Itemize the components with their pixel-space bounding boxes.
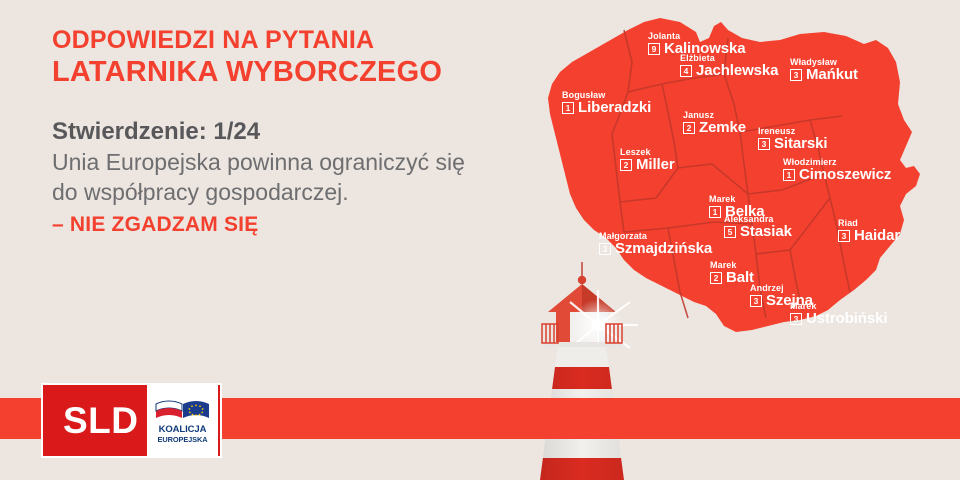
- candidate-list-number: 1: [709, 206, 721, 218]
- candidate-name-row: 3Mańkut: [790, 67, 858, 82]
- map-candidate-liberadzki: Bogusław1Liberadzki: [562, 91, 651, 115]
- map-candidate-zemke: Janusz2Zemke: [683, 111, 746, 135]
- map-candidate-sitarski: Ireneusz3Sitarski: [758, 127, 827, 151]
- candidate-last-name: Szmajdzińska: [615, 241, 712, 256]
- map-candidate-haidar: Riad3Haidar: [838, 219, 900, 243]
- candidate-name-row: 3Ustrobiński: [790, 311, 887, 326]
- map-candidate-cimoszewicz: Włodzimierz1Cimoszewicz: [783, 158, 891, 182]
- statement-answer: – NIE ZGADZAM SIĘ: [52, 211, 492, 238]
- statement-block: Stwierdzenie: 1/24 Unia Europejska powin…: [52, 116, 492, 239]
- statement-text: Unia Europejska powinna ograniczyć się d…: [52, 147, 472, 208]
- candidate-name-row: 5Stasiak: [724, 224, 792, 239]
- candidate-list-number: 2: [683, 122, 695, 134]
- candidate-list-number: 3: [758, 138, 770, 150]
- candidate-name-row: 3Szmajdzińska: [599, 241, 712, 256]
- map-candidate-mańkut: Władysław3Mańkut: [790, 58, 858, 82]
- poster-canvas: Jolanta9KalinowskaElżbieta4JachlewskaWła…: [0, 0, 960, 480]
- candidate-list-number: 2: [710, 272, 722, 284]
- koalicja-line-2: EUROPEJSKA: [158, 436, 208, 443]
- message-column: ODPOWIEDZI NA PYTANIA LATARNIKA WYBORCZE…: [52, 26, 492, 238]
- candidate-last-name: Haidar: [854, 228, 900, 243]
- candidate-name-row: 1Cimoszewicz: [783, 167, 891, 182]
- candidate-last-name: Ustrobiński: [806, 311, 887, 326]
- candidate-name-row: 3Haidar: [838, 228, 900, 243]
- map-candidate-balt: Marek2Balt: [710, 261, 754, 285]
- candidate-list-number: 3: [750, 295, 762, 307]
- map-candidate-miller: Leszek2Miller: [620, 148, 675, 172]
- map-candidate-jachlewska: Elżbieta4Jachlewska: [680, 54, 778, 78]
- candidate-name-row: 2Balt: [710, 270, 754, 285]
- candidate-list-number: 4: [680, 65, 692, 77]
- statement-counter: Stwierdzenie: 1/24: [52, 116, 492, 147]
- candidate-name-row: 2Zemke: [683, 120, 746, 135]
- candidate-name-row: 2Miller: [620, 157, 675, 172]
- flags-icon: [154, 398, 212, 424]
- map-candidate-ustrobiński: Marek3Ustrobiński: [790, 302, 887, 326]
- candidate-last-name: Jachlewska: [696, 63, 778, 78]
- candidate-last-name: Zemke: [699, 120, 746, 135]
- koalicja-europejska-logo: KOALICJA EUROPEJSKA: [147, 385, 218, 456]
- candidate-last-name: Miller: [636, 157, 675, 172]
- candidate-name-row: 1Liberadzki: [562, 100, 651, 115]
- candidate-last-name: Liberadzki: [578, 100, 651, 115]
- candidate-name-row: 3Sitarski: [758, 136, 827, 151]
- candidate-list-number: 1: [562, 102, 574, 114]
- candidate-list-number: 5: [724, 226, 736, 238]
- sld-logo-text: SLD: [43, 400, 147, 442]
- candidate-list-number: 1: [783, 169, 795, 181]
- candidate-name-row: 4Jachlewska: [680, 63, 778, 78]
- candidate-list-number: 3: [599, 243, 611, 255]
- koalicja-line-1: KOALICJA: [159, 425, 207, 435]
- candidate-list-number: 3: [790, 69, 802, 81]
- map-candidate-szmajdzińska: Małgorzata3Szmajdzińska: [599, 232, 712, 256]
- candidate-list-number: 3: [790, 313, 802, 325]
- lighthouse-illustration: [512, 262, 652, 480]
- candidate-list-number: 3: [838, 230, 850, 242]
- headline-line-2: LATARNIKA WYBORCZEGO: [52, 55, 492, 89]
- map-candidate-stasiak: Aleksandra5Stasiak: [724, 215, 792, 239]
- candidate-last-name: Mańkut: [806, 67, 858, 82]
- candidate-last-name: Cimoszewicz: [799, 167, 891, 182]
- candidate-list-number: 2: [620, 159, 632, 171]
- candidate-last-name: Sitarski: [774, 136, 827, 151]
- logo-lockup: SLD: [41, 383, 222, 458]
- headline-line-1: ODPOWIEDZI NA PYTANIA: [52, 26, 492, 56]
- candidate-list-number: 9: [648, 43, 660, 55]
- candidate-last-name: Stasiak: [740, 224, 792, 239]
